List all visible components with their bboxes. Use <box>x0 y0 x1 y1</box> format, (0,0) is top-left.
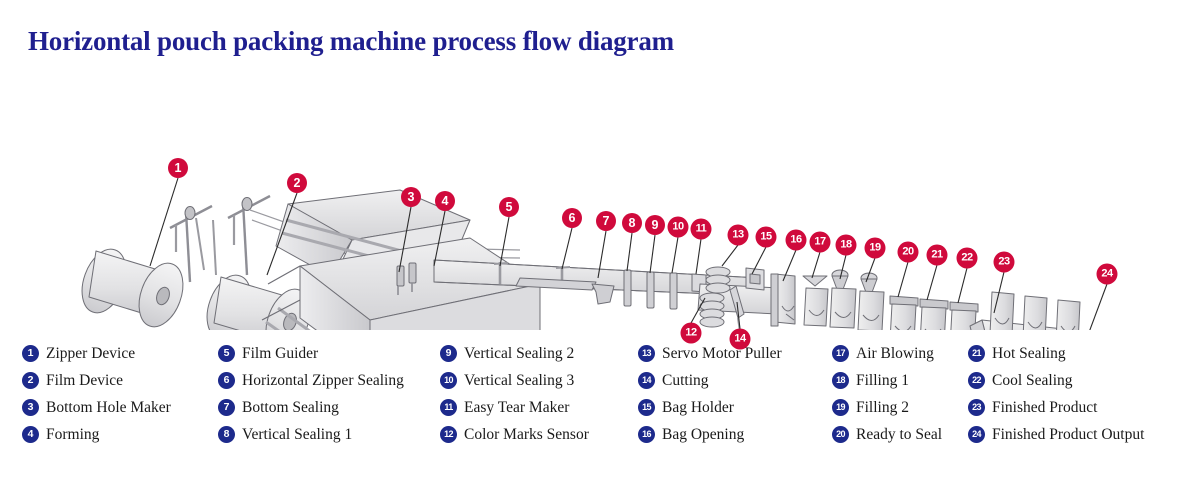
callout-marker-24[interactable]: 24 <box>1097 264 1118 285</box>
legend-label-21: Hot Sealing <box>992 345 1066 363</box>
callout-marker-3[interactable]: 3 <box>401 187 421 207</box>
legend-item-18[interactable]: 18Filling 1 <box>832 367 942 394</box>
legend-badge-1: 1 <box>22 345 39 362</box>
legend-column-1: 1Zipper Device2Film Device3Bottom Hole M… <box>22 340 171 448</box>
legend-label-12: Color Marks Sensor <box>464 426 589 444</box>
machine-illustration <box>0 70 1200 330</box>
legend-item-21[interactable]: 21Hot Sealing <box>968 340 1144 367</box>
page-title: Horizontal pouch packing machine process… <box>28 26 674 57</box>
legend-label-6: Horizontal Zipper Sealing <box>242 372 404 390</box>
callout-marker-20[interactable]: 20 <box>898 242 919 263</box>
legend-item-9[interactable]: 9Vertical Sealing 2 <box>440 340 589 367</box>
callout-marker-23[interactable]: 23 <box>994 252 1015 273</box>
callout-marker-4[interactable]: 4 <box>435 191 455 211</box>
zipper-device-group <box>74 206 216 330</box>
legend-label-17: Air Blowing <box>856 345 934 363</box>
callout-marker-1[interactable]: 1 <box>168 158 188 178</box>
legend-label-15: Bag Holder <box>662 399 734 417</box>
legend-label-14: Cutting <box>662 372 709 390</box>
legend-badge-23: 23 <box>968 399 985 416</box>
callout-marker-7[interactable]: 7 <box>596 211 616 231</box>
bag-holder-group <box>746 268 764 290</box>
legend-badge-15: 15 <box>638 399 655 416</box>
legend-item-20[interactable]: 20Ready to Seal <box>832 421 942 448</box>
air-blowing-group <box>803 276 828 326</box>
legend-badge-16: 16 <box>638 426 655 443</box>
legend-column-4: 13Servo Motor Puller14Cutting15Bag Holde… <box>638 340 782 448</box>
callout-marker-8[interactable]: 8 <box>622 213 642 233</box>
legend-column-5: 17Air Blowing18Filling 119Filling 220Rea… <box>832 340 942 448</box>
callout-marker-9[interactable]: 9 <box>645 215 665 235</box>
legend-badge-13: 13 <box>638 345 655 362</box>
legend-badge-11: 11 <box>440 399 457 416</box>
legend-badge-17: 17 <box>832 345 849 362</box>
legend-label-13: Servo Motor Puller <box>662 345 782 363</box>
legend-item-16[interactable]: 16Bag Opening <box>638 421 782 448</box>
legend-badge-18: 18 <box>832 372 849 389</box>
legend-item-13[interactable]: 13Servo Motor Puller <box>638 340 782 367</box>
legend-badge-21: 21 <box>968 345 985 362</box>
legend-badge-22: 22 <box>968 372 985 389</box>
legend: 1Zipper Device2Film Device3Bottom Hole M… <box>0 340 1200 470</box>
legend-badge-8: 8 <box>218 426 235 443</box>
legend-badge-7: 7 <box>218 399 235 416</box>
legend-item-12[interactable]: 12Color Marks Sensor <box>440 421 589 448</box>
legend-badge-24: 24 <box>968 426 985 443</box>
callout-marker-14[interactable]: 14 <box>730 329 751 350</box>
ready-to-seal-group <box>890 296 918 330</box>
legend-badge-3: 3 <box>22 399 39 416</box>
legend-label-1: Zipper Device <box>46 345 135 363</box>
filling-1-group <box>830 270 856 328</box>
callout-marker-21[interactable]: 21 <box>927 245 948 266</box>
legend-label-4: Forming <box>46 426 99 444</box>
legend-label-10: Vertical Sealing 3 <box>464 372 574 390</box>
callout-marker-19[interactable]: 19 <box>865 238 886 259</box>
legend-column-6: 21Hot Sealing22Cool Sealing23Finished Pr… <box>968 340 1144 448</box>
callout-marker-15[interactable]: 15 <box>756 227 777 248</box>
legend-item-15[interactable]: 15Bag Holder <box>638 394 782 421</box>
legend-badge-9: 9 <box>440 345 457 362</box>
legend-label-9: Vertical Sealing 2 <box>464 345 574 363</box>
legend-item-5[interactable]: 5Film Guider <box>218 340 404 367</box>
callout-marker-12[interactable]: 12 <box>681 323 702 344</box>
legend-label-24: Finished Product Output <box>992 426 1144 444</box>
legend-label-11: Easy Tear Maker <box>464 399 569 417</box>
legend-label-8: Vertical Sealing 1 <box>242 426 352 444</box>
callout-marker-6[interactable]: 6 <box>562 208 582 228</box>
legend-column-3: 9Vertical Sealing 210Vertical Sealing 31… <box>440 340 589 448</box>
legend-item-23[interactable]: 23Finished Product <box>968 394 1144 421</box>
callout-marker-22[interactable]: 22 <box>957 248 978 269</box>
legend-badge-10: 10 <box>440 372 457 389</box>
legend-item-4[interactable]: 4Forming <box>22 421 171 448</box>
legend-label-23: Finished Product <box>992 399 1098 417</box>
legend-item-8[interactable]: 8Vertical Sealing 1 <box>218 421 404 448</box>
legend-label-3: Bottom Hole Maker <box>46 399 171 417</box>
callout-marker-11[interactable]: 11 <box>691 219 712 240</box>
legend-column-2: 5Film Guider6Horizontal Zipper Sealing7B… <box>218 340 404 448</box>
legend-label-16: Bag Opening <box>662 426 744 444</box>
legend-item-3[interactable]: 3Bottom Hole Maker <box>22 394 171 421</box>
legend-badge-19: 19 <box>832 399 849 416</box>
legend-item-24[interactable]: 24Finished Product Output <box>968 421 1144 448</box>
legend-item-14[interactable]: 14Cutting <box>638 367 782 394</box>
process-flow-diagram: 123456789101112131415161718192021222324 <box>0 70 1200 330</box>
legend-badge-2: 2 <box>22 372 39 389</box>
legend-item-6[interactable]: 6Horizontal Zipper Sealing <box>218 367 404 394</box>
legend-label-18: Filling 1 <box>856 372 909 390</box>
legend-badge-4: 4 <box>22 426 39 443</box>
legend-label-20: Ready to Seal <box>856 426 942 444</box>
legend-badge-14: 14 <box>638 372 655 389</box>
legend-badge-12: 12 <box>440 426 457 443</box>
legend-label-22: Cool Sealing <box>992 372 1073 390</box>
legend-badge-6: 6 <box>218 372 235 389</box>
bag-opening-group <box>771 274 795 326</box>
filling-2-group <box>858 273 884 330</box>
legend-label-5: Film Guider <box>242 345 318 363</box>
callout-marker-2[interactable]: 2 <box>287 173 307 193</box>
legend-badge-20: 20 <box>832 426 849 443</box>
legend-item-1[interactable]: 1Zipper Device <box>22 340 171 367</box>
callout-marker-10[interactable]: 10 <box>668 217 689 238</box>
hot-sealing-group <box>920 299 948 330</box>
legend-item-7[interactable]: 7Bottom Sealing <box>218 394 404 421</box>
legend-item-10[interactable]: 10Vertical Sealing 3 <box>440 367 589 394</box>
legend-item-19[interactable]: 19Filling 2 <box>832 394 942 421</box>
callout-marker-18[interactable]: 18 <box>836 235 857 256</box>
legend-label-19: Filling 2 <box>856 399 909 417</box>
output-conveyor-group <box>970 292 1101 330</box>
callout-marker-13[interactable]: 13 <box>728 225 749 246</box>
legend-label-7: Bottom Sealing <box>242 399 339 417</box>
legend-badge-5: 5 <box>218 345 235 362</box>
legend-item-2[interactable]: 2Film Device <box>22 367 171 394</box>
callout-marker-17[interactable]: 17 <box>810 232 831 253</box>
legend-item-17[interactable]: 17Air Blowing <box>832 340 942 367</box>
callout-marker-16[interactable]: 16 <box>786 230 807 251</box>
callout-marker-5[interactable]: 5 <box>499 197 519 217</box>
legend-item-22[interactable]: 22Cool Sealing <box>968 367 1144 394</box>
legend-label-2: Film Device <box>46 372 123 390</box>
legend-item-11[interactable]: 11Easy Tear Maker <box>440 394 589 421</box>
